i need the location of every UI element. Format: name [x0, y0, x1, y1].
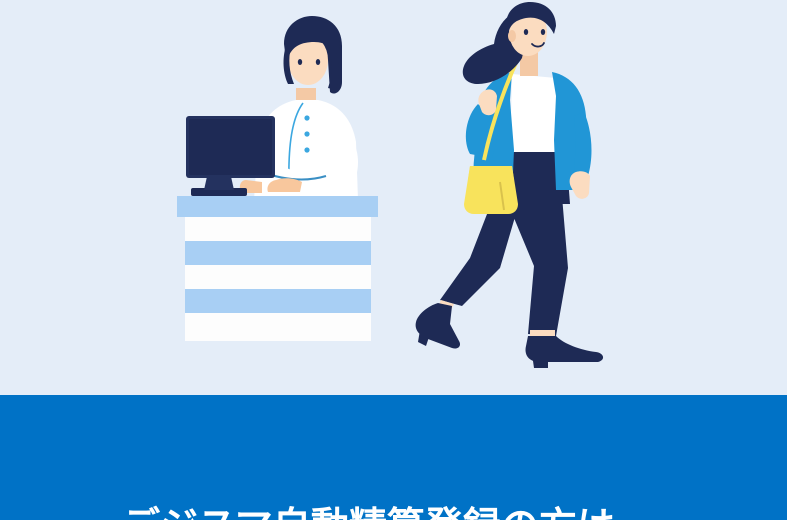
- receptionist-eye-left: [298, 59, 302, 65]
- patient-front-boot-heel: [532, 354, 548, 368]
- patient-shirt: [510, 74, 560, 160]
- illustration-canvas: [0, 0, 787, 395]
- monitor-screen: [189, 119, 272, 175]
- receptionist-coat-button: [304, 131, 309, 136]
- counter-top: [177, 196, 378, 217]
- counter-panel-white: [185, 217, 371, 241]
- patient-eye-right: [541, 29, 545, 35]
- patient-eye-left: [524, 29, 528, 35]
- patient-bag-flap: [468, 166, 514, 180]
- clinic-reception-illustration: [0, 0, 787, 395]
- patient-ear: [508, 30, 516, 42]
- receptionist-coat-button: [304, 115, 309, 120]
- caption-text-block: デジスマ自動精算登録の方は、 そのまま帰れます: [122, 405, 762, 520]
- caption-line-1: デジスマ自動精算登録の方は、: [122, 503, 762, 520]
- reception-counter: [177, 196, 378, 341]
- illustration-background: [0, 0, 787, 395]
- counter-stripe-blue: [185, 289, 371, 313]
- counter-panel-white: [185, 265, 371, 289]
- receptionist-coat-button: [304, 147, 309, 152]
- screenshot-root: デジスマ自動精算登録の方は、 そのまま帰れます: [0, 0, 787, 520]
- counter-stripe-blue: [185, 241, 371, 265]
- counter-panel-white: [185, 313, 371, 341]
- caption-banner: デジスマ自動精算登録の方は、 そのまま帰れます: [0, 395, 787, 520]
- receptionist-eye-right: [316, 59, 320, 65]
